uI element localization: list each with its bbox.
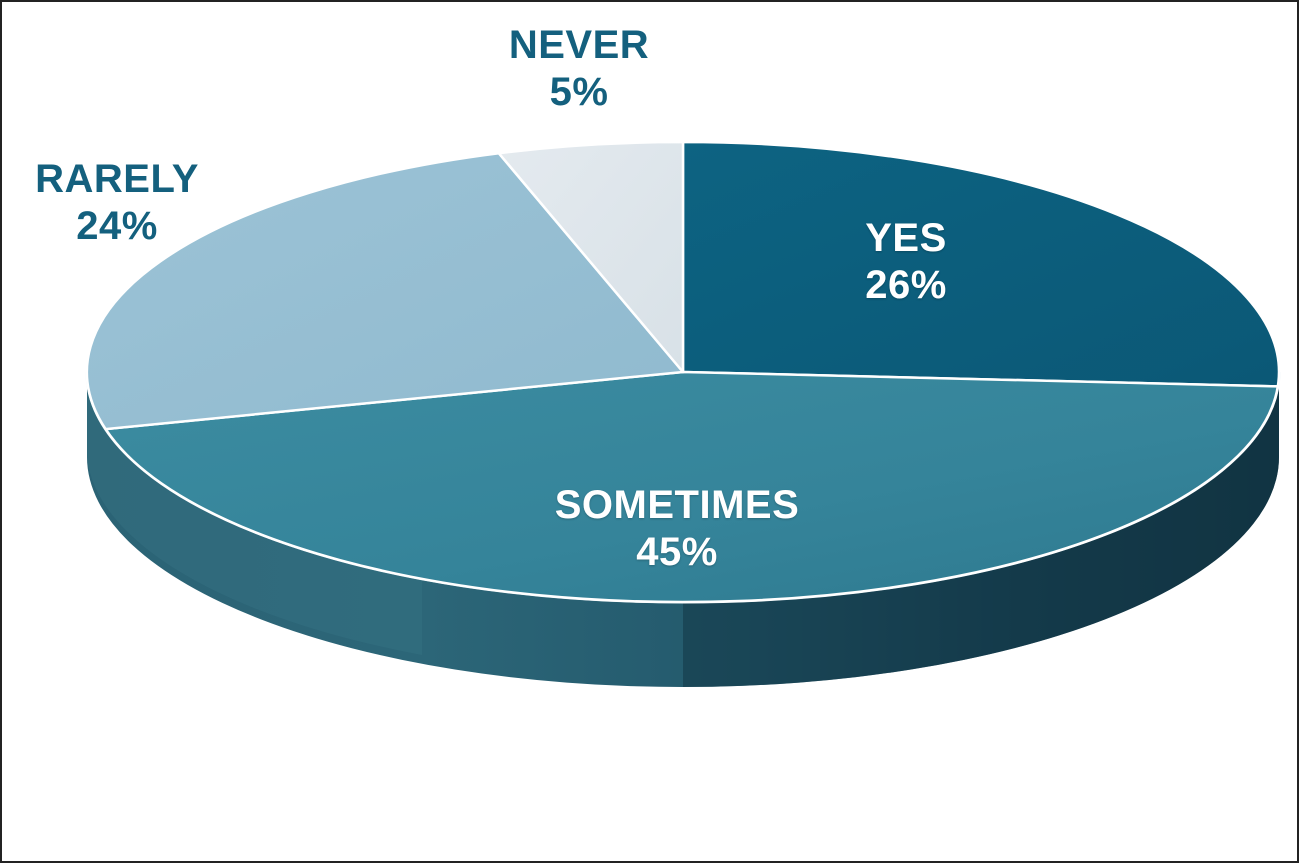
pie-chart-figure: YES 26% SOMETIMES 45% RARELY 24% NEVER 5… xyxy=(0,0,1299,863)
pie-slice-yes[interactable] xyxy=(683,142,1279,386)
pie-top-face xyxy=(87,142,1279,602)
pie-chart-graphic xyxy=(2,2,1299,863)
